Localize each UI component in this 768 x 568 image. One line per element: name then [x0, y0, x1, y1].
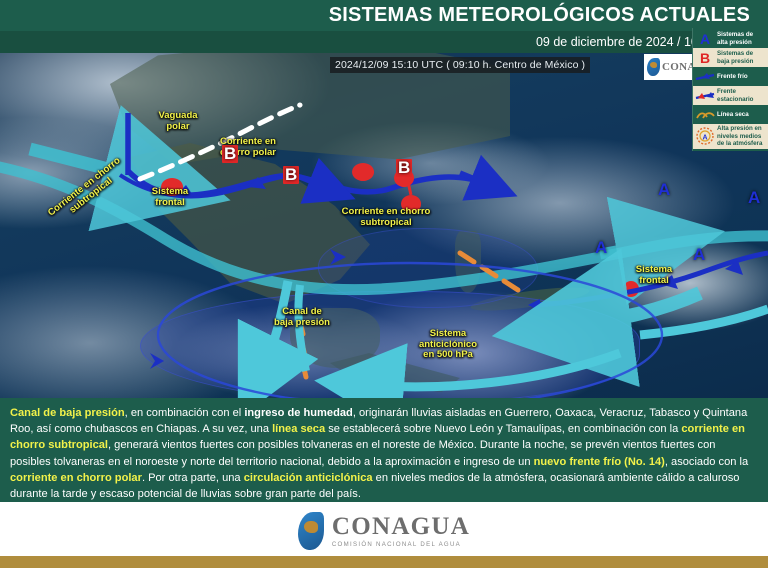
legend-item-cold-front-icon[interactable]: Frente frío — [693, 67, 768, 86]
legend-symbol-high-pressure-mid-levels-icon: A — [695, 127, 715, 145]
forecast-discussion-panel: Canal de baja presión, en combinación co… — [0, 398, 768, 502]
footer-brand: CONAGUA COMISIÓN NACIONAL DEL AGUA — [298, 512, 470, 550]
discussion-text-run: , en combinación con el — [125, 407, 245, 419]
legend-label: Frente estacionario — [717, 88, 753, 103]
map-label-corriente-chorro-polar: Corriente en chorro polar — [203, 137, 293, 158]
satellite-map[interactable]: 2024/12/09 15:10 UTC ( 09:10 h. Centro d… — [0, 53, 768, 398]
legend-symbol-dry-line-icon — [695, 110, 715, 120]
marker-a-1: A — [658, 181, 670, 198]
legend-label: Frente frío — [717, 73, 748, 81]
discussion-highlight: nuevo frente frío (No. 14) — [534, 456, 665, 468]
discussion-text-run: , asociado con la — [665, 456, 748, 468]
low-pressure-b-icon: B — [700, 51, 710, 65]
forecast-discussion-text: Canal de baja presión, en combinación co… — [10, 405, 758, 502]
stationary-front-icon — [695, 91, 715, 101]
map-label-corriente-chorro-subtropical-centro: Corriente en chorro subtropical — [341, 207, 431, 228]
discussion-emphasis: ingreso de humedad — [244, 407, 353, 419]
discussion-highlight: Canal de baja presión — [10, 407, 125, 419]
marker-b-2: B — [283, 166, 299, 184]
legend-item-high-pressure-mid-levels-icon[interactable]: AAlta presión en niveles medios de la at… — [693, 124, 768, 149]
legend-label: Línea seca — [717, 111, 749, 119]
cold-front-icon — [695, 72, 715, 82]
legend-label: Sistemas de baja presión — [717, 50, 753, 65]
map-label-sistema-anticiclonico: Sistema anticiclónico en 500 hPa — [403, 329, 493, 361]
legend-label: Sistemas de alta presión — [717, 31, 753, 46]
footer-gold-bar — [0, 556, 768, 568]
legend-symbol-letter-a: A — [695, 32, 715, 46]
satellite-timestamp: 2024/12/09 15:10 UTC ( 09:10 h. Centro d… — [330, 57, 590, 73]
discussion-highlight: corriente en chorro polar — [10, 472, 142, 484]
discussion-highlight: línea seca — [272, 423, 325, 435]
map-legend[interactable]: ASistemas de alta presiónBSistemas de ba… — [692, 28, 768, 151]
header-subtitle-bar: 09 de diciembre de 2024 / 10:00 horas — [0, 31, 768, 53]
map-label-sistema-frontal-este: Sistema frontal — [609, 265, 699, 286]
legend-item-dry-line-icon[interactable]: Línea seca — [693, 105, 768, 124]
legend-symbol-letter-b: B — [695, 51, 715, 65]
legend-item-stationary-front-icon[interactable]: Frente estacionario — [693, 86, 768, 105]
conagua-water-icon — [647, 58, 660, 76]
legend-item-letter-a[interactable]: ASistemas de alta presión — [693, 29, 768, 48]
legend-symbol-stationary-front-icon — [695, 91, 715, 101]
legend-item-letter-b[interactable]: BSistemas de baja presión — [693, 48, 768, 67]
footer: CONAGUA COMISIÓN NACIONAL DEL AGUA — [0, 502, 768, 568]
high-pressure-mid-levels-icon: A — [695, 127, 715, 145]
discussion-text-run: . Por otra parte, una — [142, 472, 244, 484]
weather-map-infographic: SISTEMAS METEOROLÓGICOS ACTUALES 09 de d… — [0, 0, 768, 568]
footer-brand-main: CONAGUA — [332, 513, 470, 540]
map-label-canal-baja-presion: Canal de baja presión — [257, 307, 347, 328]
discussion-highlight: circulación anticiclónica — [244, 472, 373, 484]
discussion-text-run: se establecerá sobre Nuevo León y Tamaul… — [325, 423, 681, 435]
marker-b-3: B — [396, 159, 412, 177]
footer-brand-sub: COMISIÓN NACIONAL DEL AGUA — [332, 542, 470, 548]
map-label-sistema-frontal-norte: Sistema frontal — [125, 187, 215, 208]
header-title-bar: SISTEMAS METEOROLÓGICOS ACTUALES — [0, 0, 768, 31]
marker-b-1: B — [222, 145, 238, 163]
low-pressure-bulbs — [161, 163, 639, 297]
marker-a-2: A — [748, 189, 760, 206]
high-pressure-a-icon: A — [700, 32, 710, 46]
legend-symbol-cold-front-icon — [695, 72, 715, 82]
dry-line-icon — [695, 110, 715, 120]
page-title: SISTEMAS METEOROLÓGICOS ACTUALES — [329, 4, 768, 27]
marker-a-3: A — [595, 239, 607, 256]
legend-label: Alta presión en niveles medios de la atm… — [717, 125, 762, 148]
svg-text:A: A — [702, 135, 707, 142]
footer-brand-name: CONAGUA COMISIÓN NACIONAL DEL AGUA — [332, 514, 470, 548]
map-label-vaguada-polar: Vaguada polar — [133, 111, 223, 132]
marker-a-4: A — [693, 246, 705, 263]
conagua-footer-water-icon — [298, 512, 324, 550]
